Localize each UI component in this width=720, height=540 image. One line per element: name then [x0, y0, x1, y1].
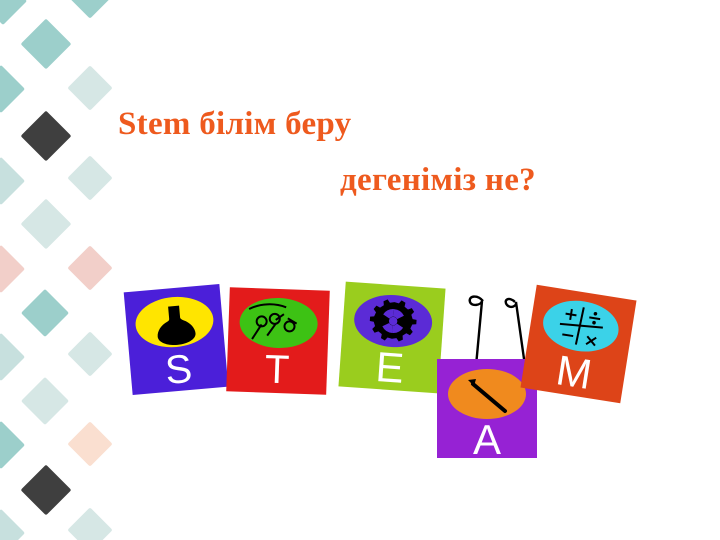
steam-letter-t: T — [226, 348, 327, 391]
steam-cards-graphic: S T — [0, 0, 720, 540]
steam-card-s[interactable]: S — [124, 284, 229, 395]
gear-badge — [352, 292, 433, 349]
gear-icon — [352, 292, 433, 349]
paintbrush-badge — [448, 369, 526, 419]
paintbrush-icon — [448, 369, 526, 419]
network-badge — [239, 297, 319, 350]
steam-card-e[interactable]: E — [338, 282, 445, 394]
flask-badge — [133, 294, 215, 351]
slide-canvas: Stem білім беру дегеніміз не? S — [0, 0, 720, 540]
steam-card-t[interactable]: T — [226, 287, 330, 394]
flask-icon — [133, 294, 215, 351]
steam-letter-a: A — [437, 419, 537, 461]
steam-letter-s: S — [129, 346, 228, 394]
steam-card-m[interactable]: M — [520, 285, 636, 404]
steam-letter-e: E — [339, 343, 442, 392]
network-nodes-icon — [239, 297, 319, 350]
